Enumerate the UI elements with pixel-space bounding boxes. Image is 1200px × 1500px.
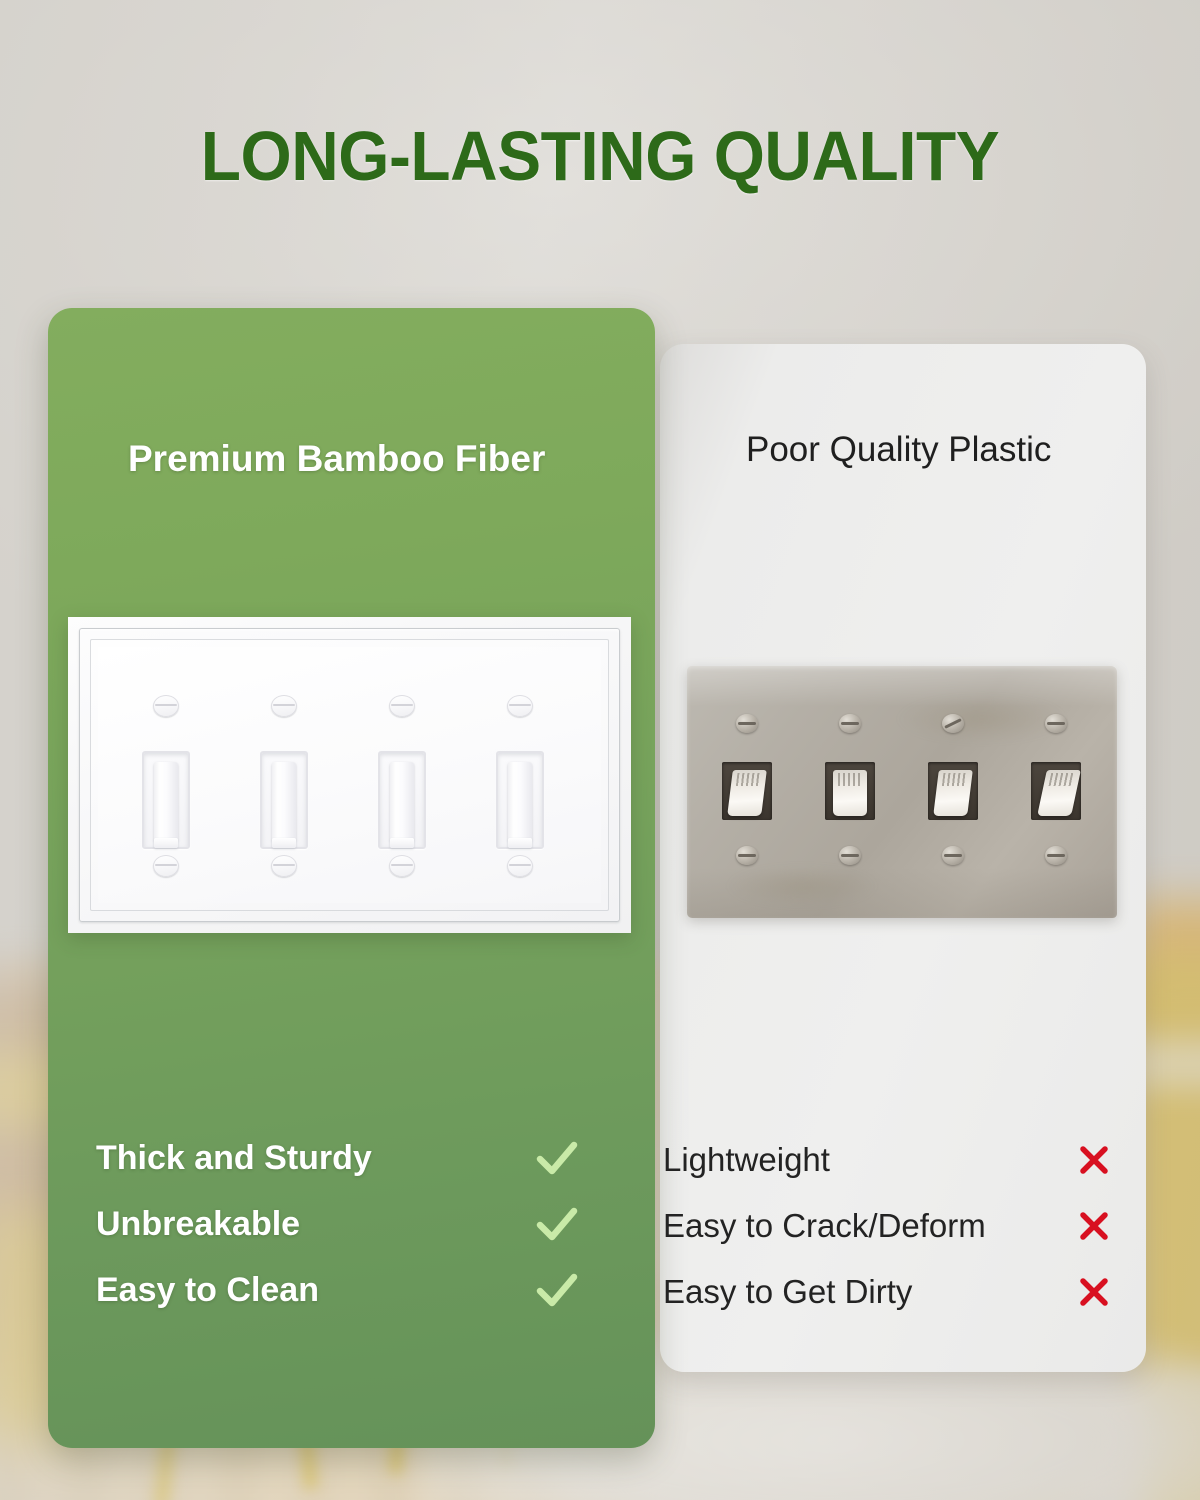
toggle-opening <box>496 751 544 849</box>
feature-label: Unbreakable <box>96 1205 300 1244</box>
screw-icon <box>942 846 964 865</box>
screw-icon <box>153 695 179 717</box>
toggle-switch-lever <box>727 770 767 816</box>
screw-icon <box>942 714 964 733</box>
screw-icon <box>736 714 758 733</box>
toggle-switch-lever <box>272 762 296 842</box>
screw-icon <box>1045 846 1067 865</box>
screw-icon <box>153 855 179 877</box>
card-heading-premium-bamboo-fiber: Premium Bamboo Fiber <box>128 438 545 480</box>
plastic-plate-gang-1 <box>693 666 800 918</box>
toggle-opening <box>260 751 308 849</box>
toggle-switch-lever <box>390 762 414 842</box>
plate-dirt-smudge-1 <box>727 866 877 906</box>
product-image-bamboo-wall-plate <box>68 617 631 933</box>
product-image-plastic-wall-plate <box>687 666 1117 918</box>
feature-label: Easy to Crack/Deform <box>663 1207 986 1245</box>
check-icon <box>534 1268 580 1312</box>
screw-icon <box>389 695 415 717</box>
feature-row: Lightweight <box>663 1127 1123 1193</box>
feature-label: Easy to Clean <box>96 1271 319 1310</box>
bamboo-plate-gang-1 <box>103 647 228 903</box>
cross-icon <box>1075 1141 1113 1179</box>
page-title: LONG-LASTING QUALITY <box>36 116 1164 196</box>
plate-dirt-smudge-2 <box>897 696 1067 742</box>
bamboo-plate-gang-3 <box>339 647 464 903</box>
toggle-opening <box>722 762 772 820</box>
toggle-switch-lever <box>154 762 178 842</box>
feature-label: Easy to Get Dirty <box>663 1273 912 1311</box>
feature-row: Easy to Clean <box>96 1257 608 1323</box>
screw-icon <box>507 695 533 717</box>
toggle-switch-lever <box>1037 770 1081 816</box>
screw-icon <box>507 855 533 877</box>
feature-label: Lightweight <box>663 1141 830 1179</box>
screw-icon <box>839 846 861 865</box>
toggle-opening <box>825 762 875 820</box>
cross-icon <box>1075 1273 1113 1311</box>
screw-icon <box>389 855 415 877</box>
toggle-switch-lever <box>833 770 867 816</box>
toggle-opening <box>378 751 426 849</box>
screw-icon <box>736 846 758 865</box>
plastic-plate-gang-2 <box>796 666 903 918</box>
toggle-switch-lever <box>508 762 532 842</box>
cross-icon <box>1075 1207 1113 1245</box>
plastic-plate-gang-4 <box>1002 666 1109 918</box>
feature-row: Easy to Crack/Deform <box>663 1193 1123 1259</box>
bamboo-plate-gang-2 <box>221 647 346 903</box>
card-heading-poor-quality-plastic: Poor Quality Plastic <box>746 430 1051 470</box>
toggle-switch-lever <box>933 770 973 816</box>
toggle-opening <box>142 751 190 849</box>
feature-row: Unbreakable <box>96 1191 608 1257</box>
feature-row: Easy to Get Dirty <box>663 1259 1123 1325</box>
screw-icon <box>271 855 297 877</box>
check-icon <box>534 1202 580 1246</box>
feature-list-premium-bamboo-fiber: Thick and Sturdy Unbreakable Easy to Cle… <box>96 1125 608 1323</box>
toggle-opening <box>1031 762 1081 820</box>
feature-list-poor-quality-plastic: Lightweight Easy to Crack/Deform Easy to… <box>663 1127 1123 1325</box>
screw-icon <box>1045 714 1067 733</box>
feature-label: Thick and Sturdy <box>96 1139 372 1178</box>
check-icon <box>534 1136 580 1180</box>
feature-row: Thick and Sturdy <box>96 1125 608 1191</box>
plastic-plate-gang-3 <box>899 666 1006 918</box>
plate-face <box>98 647 601 903</box>
screw-icon <box>839 714 861 733</box>
toggle-opening <box>928 762 978 820</box>
screw-icon <box>271 695 297 717</box>
bamboo-plate-gang-4 <box>457 647 582 903</box>
